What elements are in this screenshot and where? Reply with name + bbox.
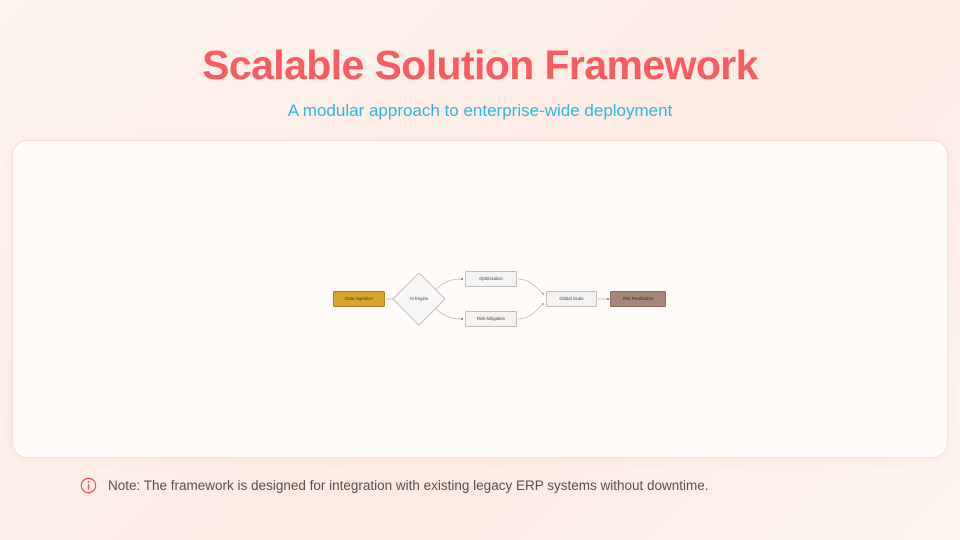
flow-node-label: Risk Mitigation [477,317,505,322]
page-header: Scalable Solution Framework A modular ap… [0,0,960,121]
flow-node-roi-realization[interactable]: ROI Realization [610,291,666,307]
flow-node-label: Data Ingestion [345,297,373,302]
flow-node-optimization[interactable]: Optimization [465,271,517,287]
page-subtitle: A modular approach to enterprise-wide de… [0,101,960,121]
flow-node-global-scale[interactable]: Global Scale [546,291,597,307]
flow-node-label: Optimization [479,277,503,282]
flow-node-risk-mitigation[interactable]: Risk Mitigation [465,311,517,327]
footer-note-text: Note: The framework is designed for inte… [108,477,709,495]
diagram-card: Data Ingestion AI Engine Optimization Ri… [12,140,948,458]
footer-note: Note: The framework is designed for inte… [80,477,709,495]
page-title: Scalable Solution Framework [0,44,960,87]
flow-node-label: AI Engine [410,297,429,302]
flow-node-label: Global Scale [559,297,583,302]
info-circle-icon [80,477,97,494]
flow-node-data-ingestion[interactable]: Data Ingestion [333,291,385,307]
flow-node-label: ROI Realization [623,297,653,302]
page-root: Scalable Solution Framework A modular ap… [0,0,960,540]
diagram-canvas: Data Ingestion AI Engine Optimization Ri… [13,141,947,457]
flowchart: Data Ingestion AI Engine Optimization Ri… [330,269,630,329]
